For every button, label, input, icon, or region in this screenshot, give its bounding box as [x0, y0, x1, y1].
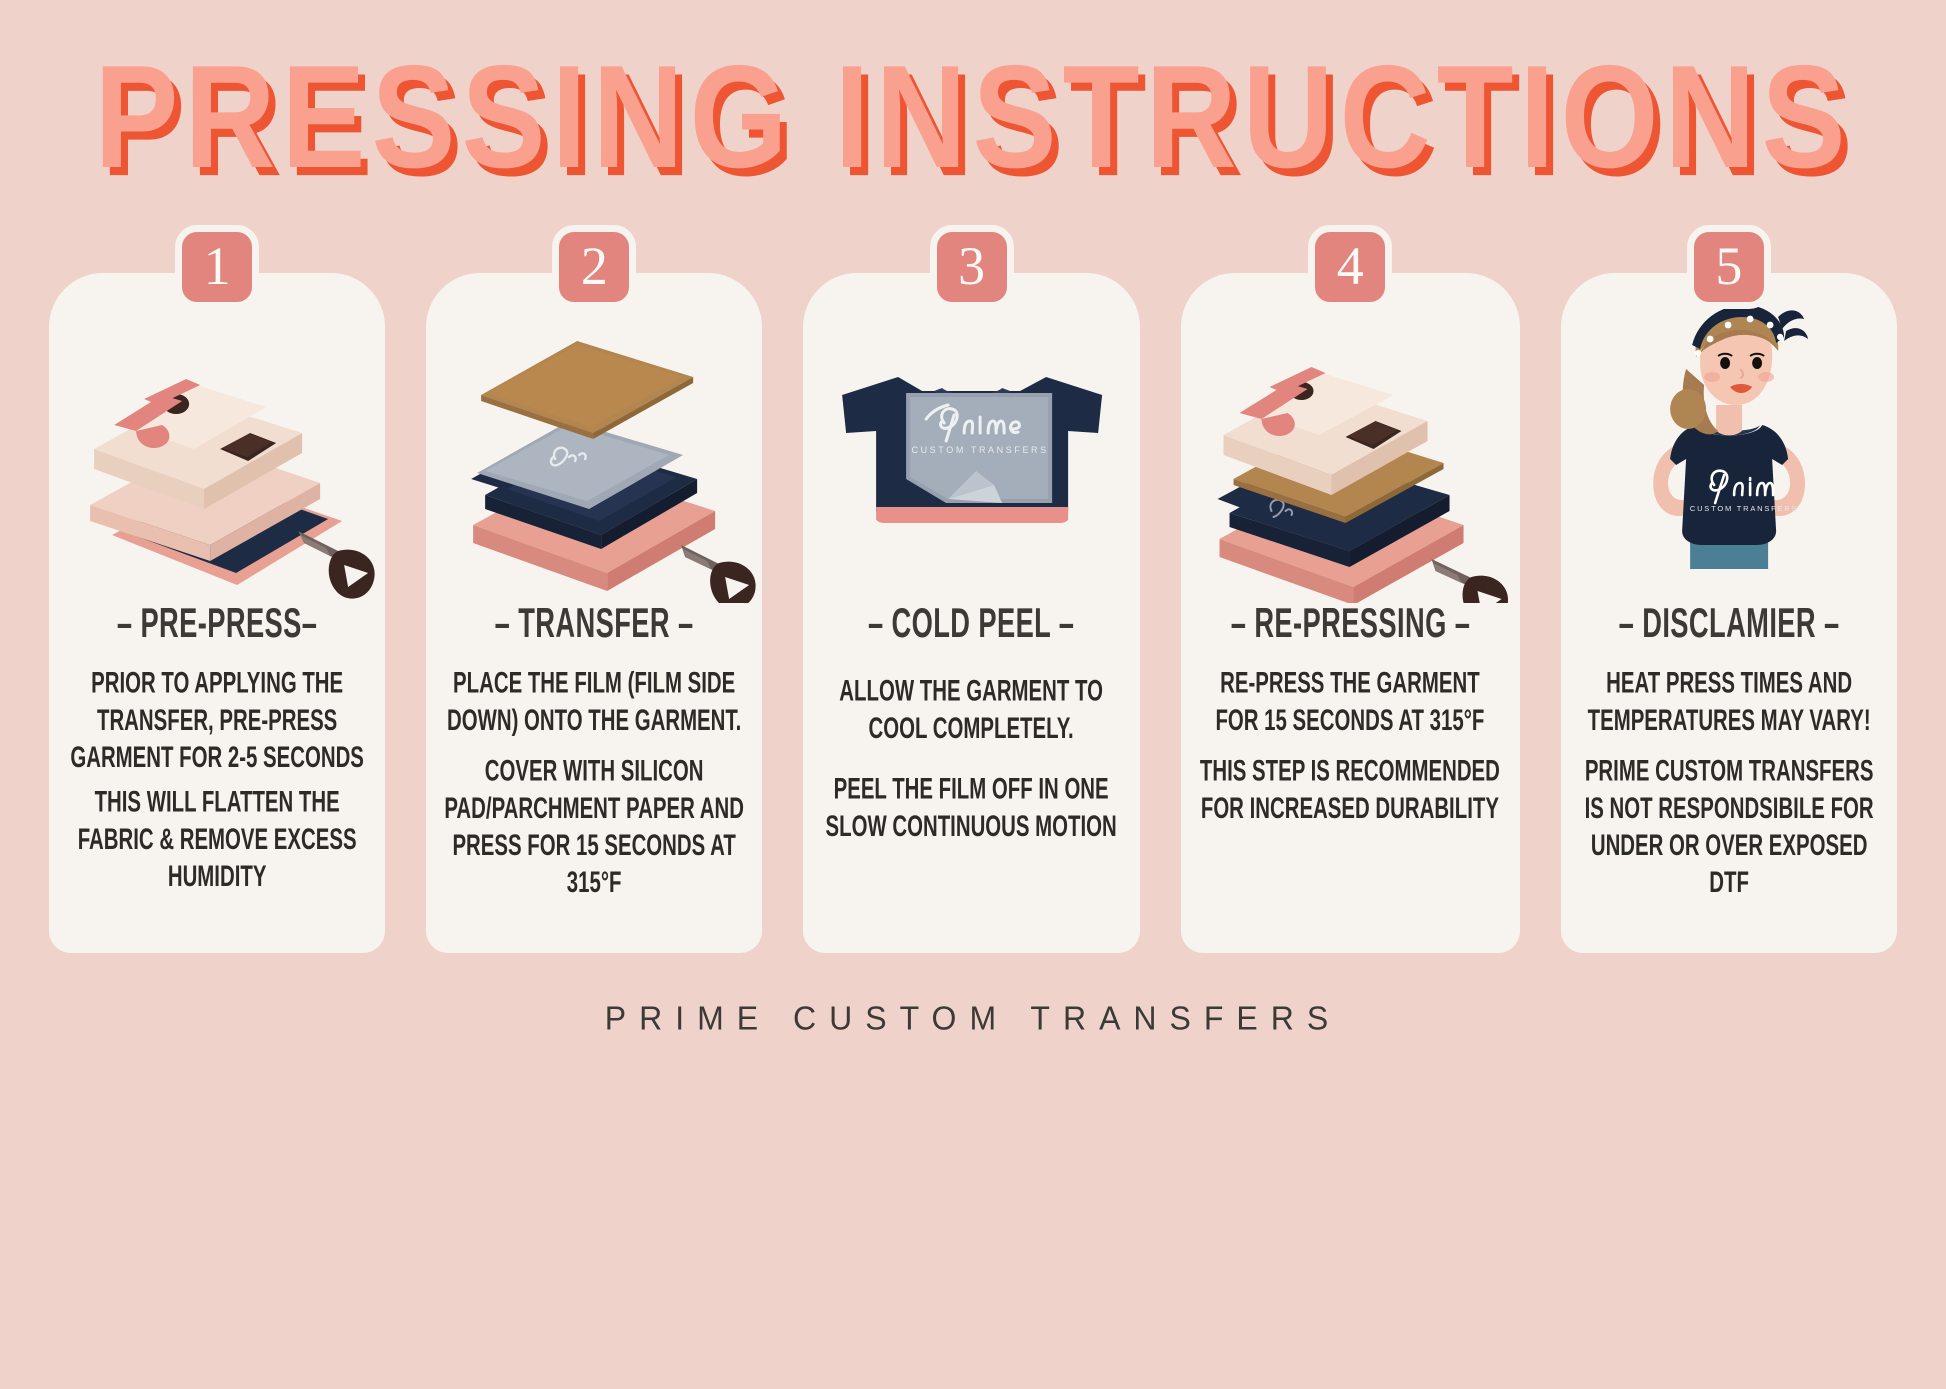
card-paragraph-1: ALLOW THE GARMENT TO COOL COMPLETELY. — [819, 674, 1123, 748]
card-paragraph-2: PRIME CUSTOM TRANSFERS IS NOT RESPONDSIB… — [1577, 754, 1881, 902]
svg-text:CUSTOM TRANSFERS: CUSTOM TRANSFERS — [912, 445, 1049, 455]
card-paragraph-2: THIS STEP IS RECOMMENDED FOR INCREASED D… — [1197, 754, 1504, 828]
step-number: 2 — [581, 239, 608, 293]
brand-footer: PRIME CUSTOM TRANSFERS — [0, 999, 1946, 1038]
card-heading: – COLD PEEL – — [853, 603, 1090, 646]
instruction-card: 4 — [1181, 273, 1520, 953]
heat-press-repress-icon — [1181, 273, 1520, 603]
step-number: 4 — [1337, 239, 1364, 293]
parchment-film-garment-stack-icon — [426, 273, 762, 603]
woman-wearing-tshirt-icon: CUSTOM TRANSFERS — [1561, 273, 1897, 603]
svg-text:CUSTOM TRANSFERS: CUSTOM TRANSFERS — [1690, 504, 1799, 513]
card-text-block: – RE-PRESSING – RE-PRESS THE GARMENT FOR… — [1181, 603, 1520, 953]
step-number: 5 — [1715, 239, 1742, 293]
card-paragraph-1: PRIOR TO APPLYING THE TRANSFER, PRE-PRES… — [65, 666, 369, 777]
card-text-block: – COLD PEEL – ALLOW THE GARMENT TO COOL … — [803, 603, 1139, 953]
instruction-card: 2 — [426, 273, 762, 953]
card-heading: – TRANSFER – — [476, 603, 713, 646]
shirt-cold-peel-icon: CUSTOM TRANSFERS — [803, 273, 1139, 603]
card-heading: – PRE-PRESS– — [98, 603, 335, 646]
instruction-card-row: 1 — [49, 273, 1897, 953]
step-number: 1 — [204, 239, 231, 293]
card-paragraph-1: PLACE THE FILM (FILM SIDE DOWN) ONTO THE… — [442, 666, 746, 740]
step-badge: 3 — [930, 225, 1014, 309]
step-badge: 2 — [552, 225, 636, 309]
card-text-block: – TRANSFER – PLACE THE FILM (FILM SIDE D… — [426, 603, 762, 953]
card-text-block: – PRE-PRESS– PRIOR TO APPLYING THE TRANS… — [49, 603, 385, 953]
step-number: 3 — [958, 239, 985, 293]
heat-press-open-icon — [49, 273, 385, 603]
card-paragraph-2: COVER WITH SILICON PAD/PARCHMENT PAPER A… — [442, 754, 746, 902]
card-paragraph-2: PEEL THE FILM OFF IN ONE SLOW CONTINUOUS… — [819, 772, 1123, 846]
instruction-card: 3 — [803, 273, 1139, 953]
card-text-block: – DISCLAMIER – HEAT PRESS TIMES AND TEMP… — [1561, 603, 1897, 953]
card-heading: – RE-PRESSING – — [1230, 603, 1469, 646]
page-title-text: PRESSING INSTRUCTIONS — [94, 35, 1851, 199]
card-paragraph-1: HEAT PRESS TIMES AND TEMPERATURES MAY VA… — [1577, 666, 1881, 740]
card-heading: – DISCLAMIER – — [1610, 603, 1847, 646]
card-paragraph-2: THIS WILL FLATTEN THE FABRIC & REMOVE EX… — [65, 785, 369, 896]
page-title: PRESSING INSTRUCTIONS PRESSING INSTRUCTI… — [0, 44, 1946, 184]
step-badge: 5 — [1687, 225, 1771, 309]
card-paragraph-1: RE-PRESS THE GARMENT FOR 15 SECONDS AT 3… — [1197, 666, 1504, 740]
step-badge: 4 — [1308, 225, 1392, 309]
step-badge: 1 — [175, 225, 259, 309]
instruction-card: 1 — [49, 273, 385, 953]
instruction-card: 5 — [1561, 273, 1897, 953]
